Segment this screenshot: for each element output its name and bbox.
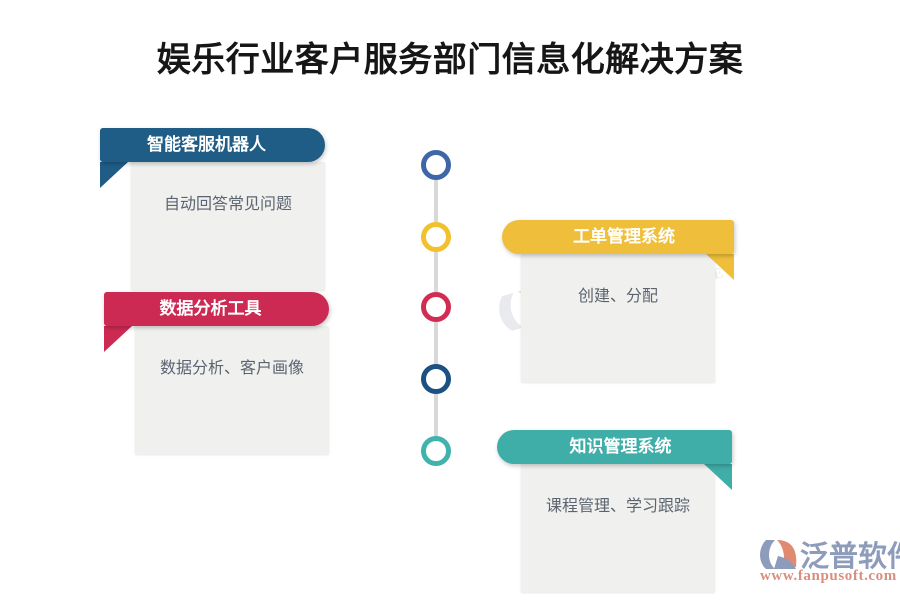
brand-logo-icon <box>757 537 799 571</box>
card-knowledge-management-system-body: 课程管理、学习跟踪 <box>521 464 715 592</box>
card-data-analysis-tool-header[interactable]: 数据分析工具 <box>104 292 329 326</box>
card-data-analysis-tool-banner-tail <box>104 326 132 352</box>
card-smart-customer-service-robot-header[interactable]: 智能客服机器人 <box>100 128 325 162</box>
card-data-analysis-tool-body: 数据分析、客户画像 <box>135 326 329 454</box>
page-title: 娱乐行业客户服务部门信息化解决方案 <box>0 32 900 81</box>
card-work-order-management-system-body-text: 创建、分配 <box>521 282 715 306</box>
timeline-node-3 <box>421 292 451 322</box>
card-knowledge-management-system-banner-tail <box>704 464 732 490</box>
card-knowledge-management-system-body-text: 课程管理、学习跟踪 <box>521 492 715 516</box>
card-smart-customer-service-robot-body-text: 自动回答常见问题 <box>131 190 325 214</box>
slide-canvas: 娱乐行业客户服务部门信息化解决方案 泛普软件 FANPU SOFTWARE 自动… <box>0 0 900 600</box>
card-data-analysis-tool-body-text: 数据分析、客户画像 <box>135 354 329 378</box>
card-smart-customer-service-robot-banner-tail <box>100 162 128 188</box>
card-knowledge-management-system-header[interactable]: 知识管理系统 <box>497 430 732 464</box>
card-work-order-management-system-body: 创建、分配 <box>521 254 715 382</box>
timeline-node-4 <box>421 364 451 394</box>
card-work-order-management-system-banner-tail <box>706 254 734 280</box>
brand-logo-url: www.fanpusoft.com <box>760 568 897 585</box>
card-smart-customer-service-robot-body: 自动回答常见问题 <box>131 162 325 290</box>
timeline-node-2 <box>421 222 451 252</box>
timeline-node-1 <box>421 150 451 180</box>
brand-logo: 泛普软件 www.fanpusoft.com <box>757 535 893 587</box>
timeline-node-5 <box>421 436 451 466</box>
card-work-order-management-system-header[interactable]: 工单管理系统 <box>502 220 734 254</box>
